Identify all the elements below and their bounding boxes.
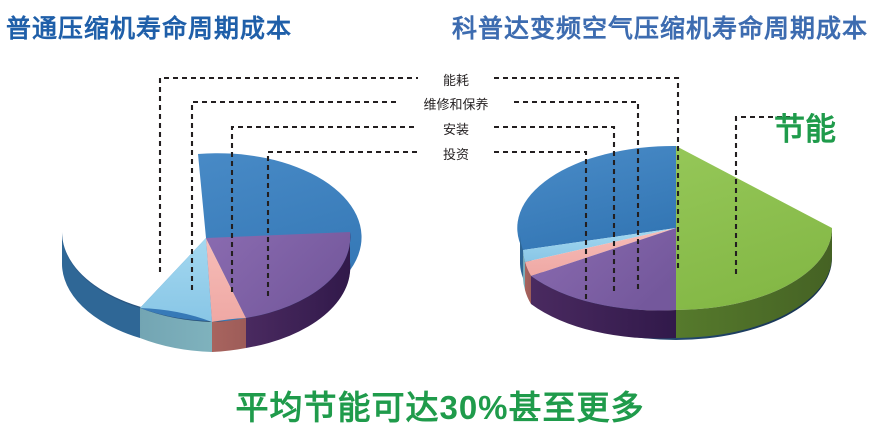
legend-label-investment: 投资	[443, 144, 469, 163]
left-slice-installation-side	[212, 318, 246, 352]
slide-canvas: 普通压缩机寿命周期成本 科普达变频空气压缩机寿命周期成本	[0, 0, 879, 427]
pie-charts-artwork	[0, 0, 879, 427]
legend-label-installation: 安装	[443, 119, 469, 138]
left-pie-chart	[62, 153, 362, 352]
summary-caption: 平均节能可达30%甚至更多	[235, 381, 644, 429]
legend-label-energy: 能耗	[443, 70, 469, 89]
legend-label-maintenance: 维修和保养	[423, 94, 488, 113]
right-pie-chart	[517, 146, 832, 340]
left-slice-energy-side-front	[62, 232, 140, 338]
callout-label-saving: 节能	[774, 104, 836, 149]
